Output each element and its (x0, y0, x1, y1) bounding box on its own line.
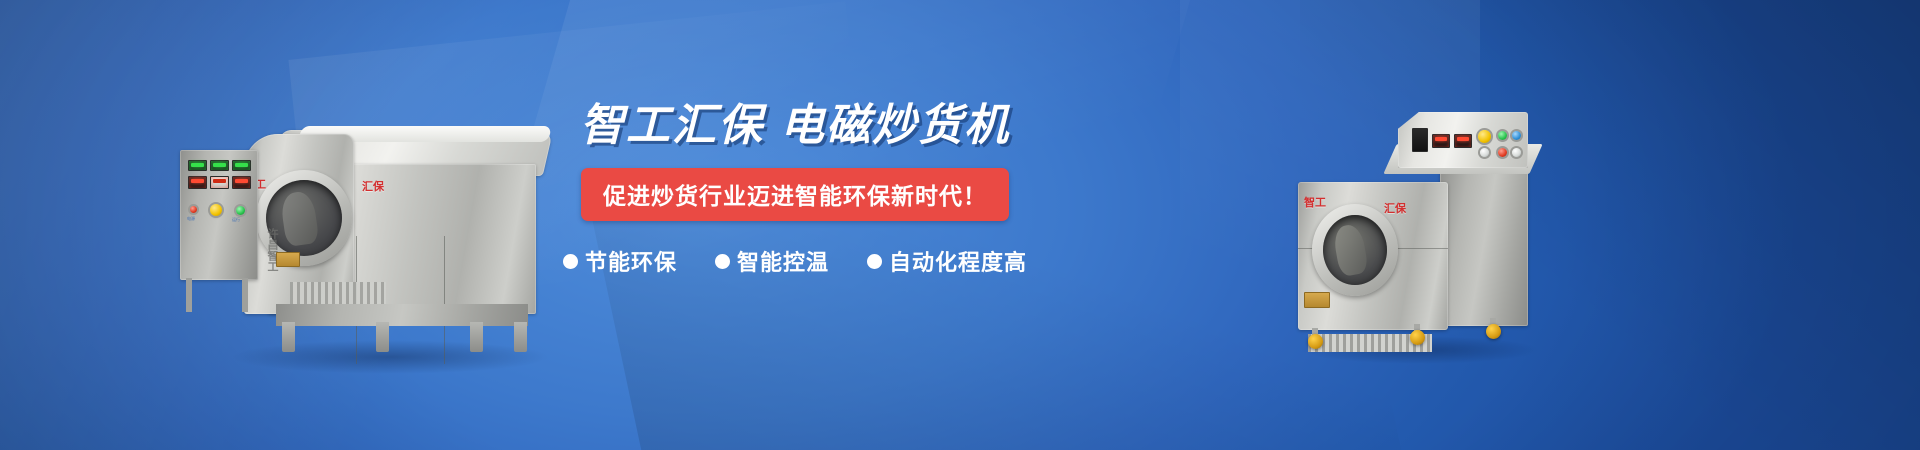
headline-brand: 智工汇保 (580, 101, 764, 150)
display-timer (1454, 134, 1472, 148)
display-time (210, 160, 229, 171)
feature-label-3: 自动化程度高 (889, 245, 1027, 277)
machine-right-stir-blade (1332, 223, 1370, 278)
feature-label-2: 智能控温 (737, 245, 829, 277)
machine-left-foot-4 (514, 322, 527, 352)
banner-feature-list: 节能环保 智能控温 自动化程度高 (560, 245, 1030, 277)
machine-left-illustration: 智工 汇保 电源 运行 许昌智工 (180, 104, 570, 354)
knob-reset[interactable] (1512, 148, 1521, 157)
knob-emergency-stop[interactable] (1478, 130, 1491, 143)
machine-left-base (276, 304, 528, 326)
machine-right-illustration: 智工 汇保 (1290, 96, 1550, 356)
machine-left-panel-leg-1 (186, 278, 192, 312)
machine-right-drum-ring (1312, 204, 1398, 296)
knob-run[interactable] (236, 206, 245, 215)
machine-right-brand-zhigong: 智工 (1304, 194, 1326, 210)
knob-emergency-stop[interactable] (210, 204, 222, 216)
machine-left-panel-leg-2 (242, 278, 248, 312)
machine-right-control-panel[interactable] (1398, 112, 1528, 168)
feature-label-1: 节能环保 (585, 245, 677, 277)
machine-left-stir-blade (279, 190, 320, 247)
machine-left-brand-huibao: 汇保 (362, 178, 384, 194)
dot-bullet-icon (715, 254, 730, 269)
knob-indicator-blue[interactable] (1512, 131, 1521, 140)
dot-bullet-icon (563, 254, 578, 269)
display-temperature-control (1432, 134, 1450, 148)
banner-tagline-ribbon: 促进炒货行业迈进智能环保新时代！ (581, 168, 1009, 221)
machine-right-caster-wheel-2 (1410, 330, 1425, 345)
feature-item-3: 自动化程度高 (867, 245, 1027, 277)
knob-start[interactable] (1498, 148, 1507, 157)
display-counter (210, 176, 229, 189)
knob-indicator-green[interactable] (1498, 131, 1507, 140)
feature-item-1: 节能环保 (563, 245, 677, 277)
machine-left-foot-2 (376, 322, 389, 352)
banner-copy-block: 智工汇保电磁炒货机 促进炒货行业迈进智能环保新时代！ 节能环保 智能控温 自动化… (560, 104, 1030, 277)
dot-bullet-icon (867, 254, 882, 269)
machine-right-nameplate (1304, 292, 1330, 308)
display-speed (232, 160, 251, 171)
label-run: 运行 (232, 217, 240, 223)
machine-right-brand-huibao: 汇保 (1384, 200, 1406, 216)
display-main (1412, 128, 1428, 152)
display-setpoint (188, 176, 207, 189)
label-power: 电源 (187, 216, 195, 222)
feature-item-2: 智能控温 (715, 245, 829, 277)
machine-left-control-panel[interactable]: 电源 运行 (180, 150, 258, 280)
machine-right-caster-wheel-3 (1486, 324, 1501, 339)
machine-left-foot-1 (282, 322, 295, 352)
promo-banner: 智工 汇保 电源 运行 许昌智工 智工汇保电磁炒货机 (0, 0, 1920, 450)
machine-right-caster-wheel-1 (1308, 334, 1323, 349)
machine-left-nameplate (276, 252, 300, 267)
machine-right-drum-opening (1323, 215, 1387, 285)
knob-stop[interactable] (1480, 148, 1489, 157)
machine-right-side-panel (1440, 158, 1528, 326)
knob-power[interactable] (190, 206, 197, 213)
machine-left-door-seam-2 (444, 236, 445, 364)
banner-headline: 智工汇保电磁炒货机 (560, 104, 1030, 148)
display-frequency (232, 176, 251, 189)
display-temperature (188, 160, 207, 171)
headline-product: 电磁炒货机 (780, 101, 1010, 150)
machine-left-foot-3 (470, 322, 483, 352)
